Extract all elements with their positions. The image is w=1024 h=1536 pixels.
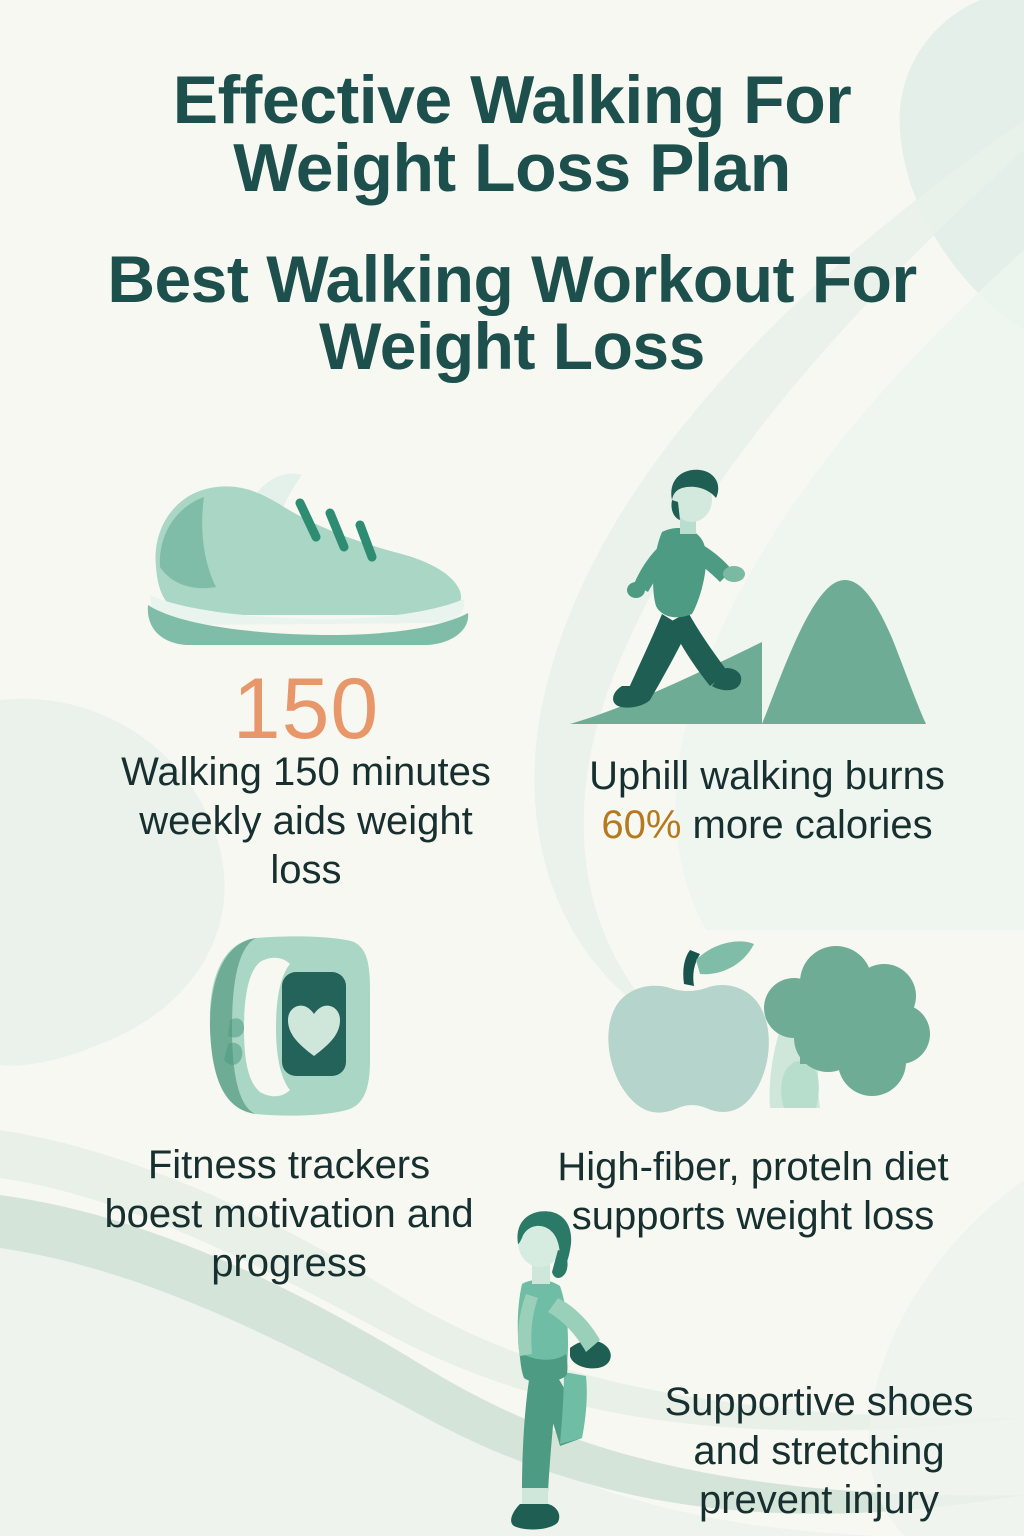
page-title-secondary: Best Walking Workout For Weight Loss xyxy=(0,246,1024,381)
page-title-primary: Effective Walking For Weight Loss Plan xyxy=(0,66,1024,202)
stretching-woman-icon xyxy=(478,1206,648,1536)
stat-number-150: 150 xyxy=(130,666,482,752)
caption-uphill-prefix: Uphill walking burns xyxy=(589,754,945,798)
running-shoe-icon xyxy=(130,463,482,653)
caption-fitness-tracker: Fitness trackers boest motivation and pr… xyxy=(96,1141,482,1287)
caption-uphill-calories: Uphill walking burns 60% more calories xyxy=(552,752,982,850)
caption-injury-prevention: Supportive shoes and stretching prevent … xyxy=(628,1378,1010,1524)
title-block: Effective Walking For Weight Loss Plan B… xyxy=(0,66,1024,381)
fitness-tracker-icon xyxy=(194,928,388,1122)
uphill-walker-icon xyxy=(566,462,966,730)
caption-walking-minutes: Walking 150 minutes weekly aids weight l… xyxy=(118,748,494,894)
caption-uphill-suffix: more calories xyxy=(681,803,932,847)
apple-broccoli-icon xyxy=(588,930,938,1118)
stat-60-percent: 60% xyxy=(601,803,681,847)
